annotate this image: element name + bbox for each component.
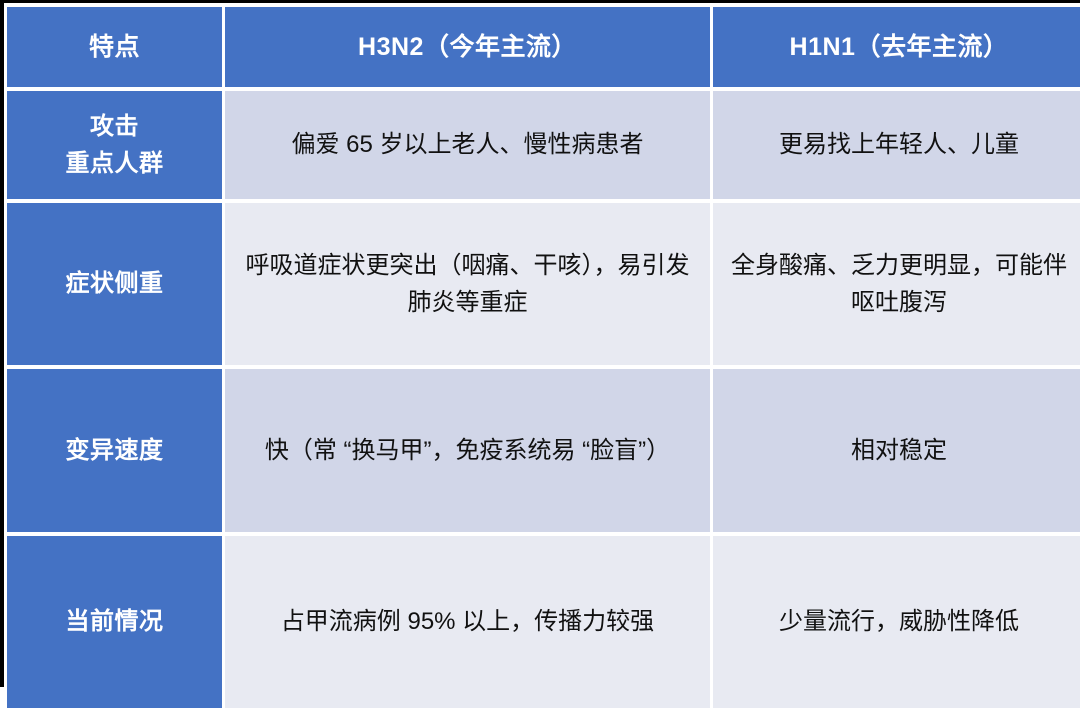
table-row: 症状侧重 呼吸道症状更突出（咽痛、干咳），易引发肺炎等重症 全身酸痛、乏力更明显… (7, 203, 1080, 365)
row-label-mutation-speed: 变异速度 (7, 369, 222, 532)
column-header-feature: 特点 (7, 7, 222, 87)
flu-comparison-table: 特点 H3N2（今年主流） H1N1（去年主流） 攻击 重点人群 偏爱 65 岁… (4, 3, 1080, 712)
table-body: 攻击 重点人群 偏爱 65 岁以上老人、慢性病患者 更易找上年轻人、儿童 症状侧… (7, 91, 1080, 708)
cell-text: 偏爱 65 岁以上老人、慢性病患者 (235, 126, 700, 163)
cell-h3n2-symptom-focus: 呼吸道症状更突出（咽痛、干咳），易引发肺炎等重症 (225, 203, 710, 365)
column-header-h1n1: H1N1（去年主流） (713, 7, 1080, 87)
cell-text: 呼吸道症状更突出（咽痛、干咳），易引发肺炎等重症 (235, 247, 700, 321)
table-row: 攻击 重点人群 偏爱 65 岁以上老人、慢性病患者 更易找上年轻人、儿童 (7, 91, 1080, 199)
cell-h1n1-mutation-speed: 相对稳定 (713, 369, 1080, 532)
row-label-symptom-focus: 症状侧重 (7, 203, 222, 365)
cell-h3n2-mutation-speed: 快（常 “换马甲”，免疫系统易 “脸盲”） (225, 369, 710, 532)
cell-text: 快（常 “换马甲”，免疫系统易 “脸盲”） (235, 432, 700, 469)
cell-h1n1-attack-groups: 更易找上年轻人、儿童 (713, 91, 1080, 199)
row-label-line-1: 当前情况 (17, 603, 212, 640)
comparison-table-frame: 特点 H3N2（今年主流） H1N1（去年主流） 攻击 重点人群 偏爱 65 岁… (0, 0, 1080, 687)
cell-h1n1-current-status: 少量流行，威胁性降低 (713, 536, 1080, 708)
cell-text: 相对稳定 (723, 432, 1075, 469)
cell-h1n1-symptom-focus: 全身酸痛、乏力更明显，可能伴呕吐腹泻 (713, 203, 1080, 365)
table-header: 特点 H3N2（今年主流） H1N1（去年主流） (7, 7, 1080, 87)
cell-text: 占甲流病例 95% 以上，传播力较强 (235, 603, 700, 640)
row-label-current-status: 当前情况 (7, 536, 222, 708)
column-header-h3n2: H3N2（今年主流） (225, 7, 710, 87)
row-label-line-1: 攻击 (17, 108, 212, 145)
cell-h3n2-current-status: 占甲流病例 95% 以上，传播力较强 (225, 536, 710, 708)
row-label-line-1: 症状侧重 (17, 265, 212, 302)
cell-text: 全身酸痛、乏力更明显，可能伴呕吐腹泻 (723, 247, 1075, 321)
row-label-line-2: 重点人群 (17, 145, 212, 182)
row-label-attack-groups: 攻击 重点人群 (7, 91, 222, 199)
cell-h3n2-attack-groups: 偏爱 65 岁以上老人、慢性病患者 (225, 91, 710, 199)
cell-text: 更易找上年轻人、儿童 (723, 126, 1075, 163)
table-row: 当前情况 占甲流病例 95% 以上，传播力较强 少量流行，威胁性降低 (7, 536, 1080, 708)
table-row: 变异速度 快（常 “换马甲”，免疫系统易 “脸盲”） 相对稳定 (7, 369, 1080, 532)
row-label-line-1: 变异速度 (17, 432, 212, 469)
cell-text: 少量流行，威胁性降低 (723, 603, 1075, 640)
header-row: 特点 H3N2（今年主流） H1N1（去年主流） (7, 7, 1080, 87)
